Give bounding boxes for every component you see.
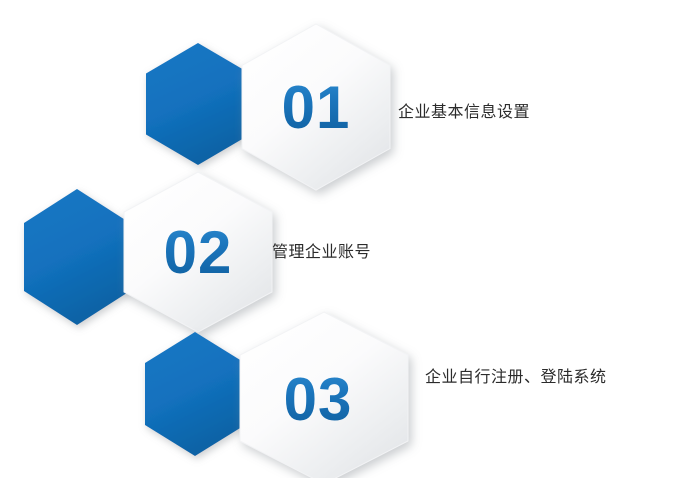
step-2-blue-hexagon[interactable] (24, 189, 130, 325)
step-3-number: 03 (284, 366, 353, 433)
step-3-label: 企业自行注册、登陆系统 (425, 368, 607, 387)
step-1-number: 01 (282, 74, 351, 141)
step-3-blue-hexagon[interactable] (145, 332, 245, 456)
step-1-blue-hexagon[interactable] (146, 43, 250, 165)
step-1-group: 01 (146, 24, 390, 190)
step-2-group: 02 (24, 172, 272, 332)
hexagon-steps-infographic: 01 02 03 企业基本信息设置 管理企业账号 企业自行注册、登陆系统 (0, 0, 693, 478)
step-2-label: 管理企业账号 (272, 243, 371, 262)
step-1-label: 企业基本信息设置 (398, 103, 530, 122)
step-2-number: 02 (164, 219, 233, 286)
hexagon-graphics-layer: 01 02 03 (0, 0, 693, 478)
step-3-group: 03 (145, 312, 408, 478)
